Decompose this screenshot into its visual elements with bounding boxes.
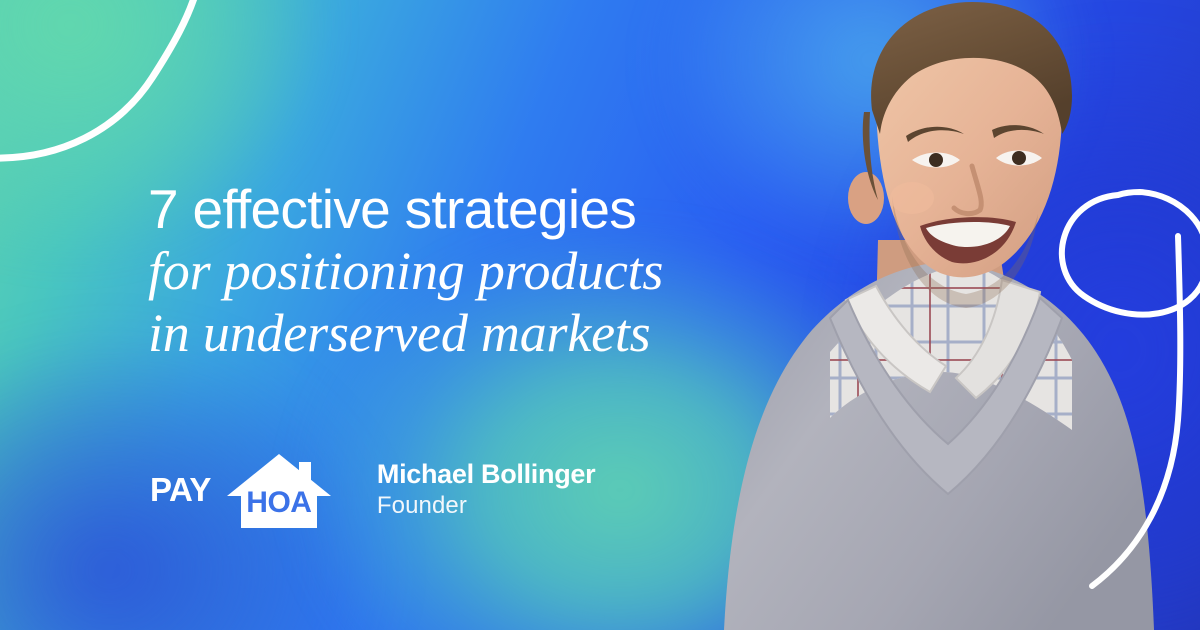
headline-line-2: for positioning products (148, 240, 828, 302)
cheek-highlight (890, 182, 934, 214)
logo-pay-text: PAY (150, 473, 211, 508)
headline-line-3: in underserved markets (148, 302, 828, 364)
ear-left (848, 172, 884, 224)
payhoa-logo[interactable]: PAY HOA (150, 448, 333, 532)
byline: Michael Bollinger Founder (377, 457, 595, 523)
social-share-card: 7 effective strategies for positioning p… (0, 0, 1200, 630)
pupil-left (929, 153, 943, 167)
byline-name: Michael Bollinger (377, 457, 595, 491)
house-icon-svg (225, 448, 333, 532)
pupil-right (1012, 151, 1026, 165)
footer-brand-row: PAY HOA Michael Bollinger Founder (150, 444, 595, 536)
byline-role: Founder (377, 491, 595, 521)
house-icon: HOA (225, 448, 333, 532)
house-body-icon (227, 454, 331, 528)
headline-line-1: 7 effective strategies (148, 178, 828, 240)
headline: 7 effective strategies for positioning p… (148, 178, 828, 364)
